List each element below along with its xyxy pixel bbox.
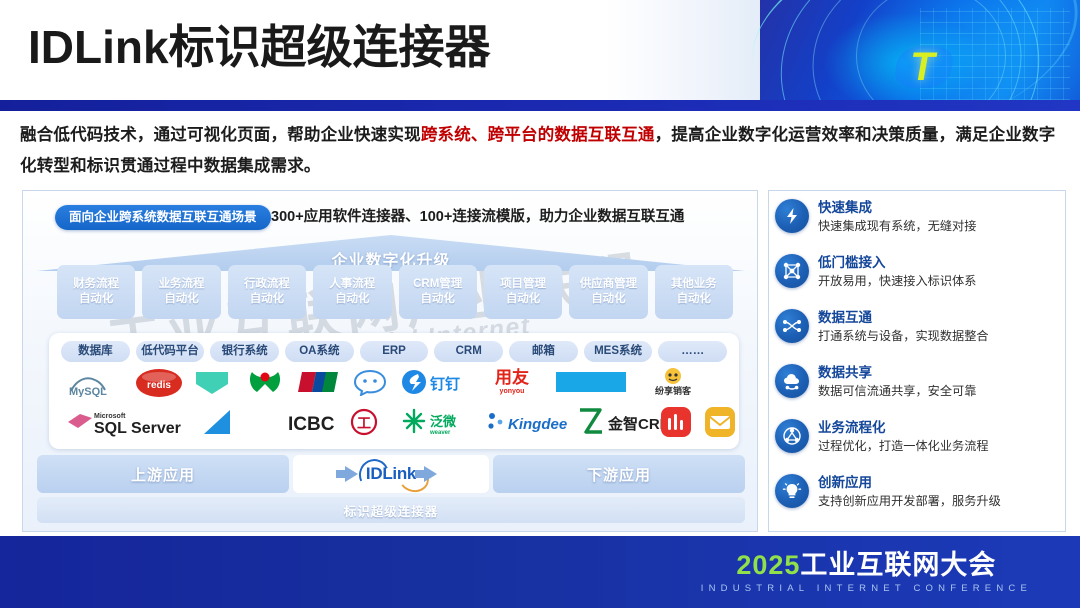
process-box-label-line2: 自动化 [79, 292, 114, 307]
process-flow-icon [775, 419, 809, 453]
system-tag-more[interactable]: …… [658, 341, 727, 362]
feature-title: 低门槛接入 [818, 254, 1057, 272]
svg-text:weaver: weaver [429, 430, 451, 436]
kingdee-logo: Kingdee [483, 407, 575, 437]
feature-desc: 支持创新应用开发部署，服务升级 [818, 492, 1057, 510]
unionpay-logo [295, 369, 341, 395]
feature-title: 创新应用 [818, 474, 1057, 492]
system-tag-banking[interactable]: 银行系统 [210, 341, 279, 362]
systems-card: 数据库 低代码平台 银行系统 OA系统 ERP CRM 邮箱 MES系统 …… … [49, 333, 739, 449]
process-box-row: 财务流程 自动化 业务流程 自动化 行政流程 自动化 人事流程 自动化 CRM管… [57, 265, 733, 319]
scene-tag: 面向企业跨系统数据互联互通场景 [55, 205, 271, 230]
blue-triangle-logo [199, 407, 243, 437]
feature-desc: 数据可信流通共享，安全可靠 [818, 382, 1057, 400]
svg-text:Kingdee: Kingdee [508, 416, 567, 433]
intro-highlight: 跨系统、跨平台的数据互联互通 [421, 126, 655, 144]
feature-title: 数据共享 [818, 364, 1057, 382]
process-box-label-line1: 财务流程 [73, 277, 119, 292]
page-header: T IDLink标识超级连接器 [0, 0, 1080, 104]
panel-headline: 300+应用软件连接器、100+连接流模版，助力企业数据互联互通 [271, 205, 684, 230]
upstream-apps[interactable]: 上游应用 [37, 455, 289, 493]
cloud-share-icon [775, 364, 809, 398]
process-box-label-line1: 供应商管理 [580, 277, 638, 292]
conference-name-cn: 工业互联网大会 [800, 550, 996, 580]
redis-logo: redis [133, 367, 185, 399]
conference-year: 2025 [736, 550, 800, 580]
svg-text:MySQL: MySQL [69, 386, 107, 397]
feature-title: 快速集成 [818, 199, 1057, 217]
process-box-administration[interactable]: 行政流程 自动化 [228, 265, 306, 319]
psbc-logo [245, 367, 285, 397]
process-box-supplier[interactable]: 供应商管理 自动化 [569, 265, 647, 319]
svg-text:工: 工 [357, 415, 371, 431]
process-box-label-line1: 项目管理 [500, 277, 546, 292]
downstream-apps[interactable]: 下游应用 [493, 455, 745, 493]
process-box-label-line2: 自动化 [250, 292, 285, 307]
system-tag-mes[interactable]: MES系统 [584, 341, 653, 362]
process-box-label-line1: 其他业务 [671, 277, 717, 292]
title-divider [0, 100, 1080, 111]
intro-text-part1: 融合低代码技术，通过可视化页面，帮助企业快速实现 [20, 126, 421, 144]
conference-name-en: INDUSTRIAL INTERNET CONFERENCE [701, 582, 1032, 596]
teal-db-logo [193, 369, 235, 397]
idlink-connector[interactable]: IDLink [293, 455, 489, 493]
system-tag-oa[interactable]: OA系统 [285, 341, 354, 362]
svg-text:钉钉: 钉钉 [430, 375, 460, 393]
process-box-business[interactable]: 业务流程 自动化 [142, 265, 220, 319]
idlink-logo-text: IDLink [366, 464, 416, 484]
mysql-logo: MySQL [65, 369, 127, 399]
feature-item-data-interop[interactable]: 数据互通 打通系统与设备，实现数据整合 [775, 307, 1057, 362]
feature-item-fast-integration[interactable]: 快速集成 快速集成现有系统，无缝对接 [775, 197, 1057, 252]
weaver-logo: 泛微weaver [399, 405, 479, 439]
arrow-right-icon [345, 466, 358, 482]
process-box-label-line2: 自动化 [164, 292, 199, 307]
system-tag-email[interactable]: 邮箱 [509, 341, 578, 362]
svg-text:redis: redis [147, 380, 171, 391]
mail-logo [703, 405, 737, 439]
feature-item-process[interactable]: 业务流程化 过程优化，打造一体化业务流程 [775, 417, 1057, 472]
flow-row: 上游应用 IDLink 下游应用 [37, 455, 745, 493]
process-box-label-line2: 自动化 [420, 292, 455, 307]
conference-title: 2025工业互联网大会 [701, 550, 1032, 580]
system-tag-database[interactable]: 数据库 [61, 341, 130, 362]
fxiaoke-logo: 纷享销客 [639, 365, 707, 399]
svg-text:Microsoft: Microsoft [94, 413, 126, 420]
tech-globe-graphic: T [760, 0, 1080, 104]
process-box-label-line1: CRM管理 [413, 277, 462, 292]
partner-logo-grid: MySQL redis 钉钉 用友 yonyou [59, 365, 731, 443]
feature-title: 数据互通 [818, 309, 1057, 327]
feature-title: 业务流程化 [818, 419, 1057, 437]
process-box-label-line1: 行政流程 [244, 277, 290, 292]
process-box-label-line2: 自动化 [335, 292, 370, 307]
process-box-label-line1: 业务流程 [159, 277, 205, 292]
svg-text:SQL Server: SQL Server [94, 420, 181, 437]
page-title: IDLink标识超级连接器 [28, 16, 491, 78]
process-box-label-line2: 自动化 [677, 292, 712, 307]
system-tag-lowcode[interactable]: 低代码平台 [136, 341, 205, 362]
sqlserver-logo: MicrosoftSQL Server [63, 405, 183, 439]
system-tag-erp[interactable]: ERP [360, 341, 429, 362]
page-footer: 2025工业互联网大会 INDUSTRIAL INTERNET CONFEREN… [0, 536, 1080, 608]
feature-item-data-sharing[interactable]: 数据共享 数据可信流通共享，安全可靠 [775, 362, 1057, 417]
process-box-other[interactable]: 其他业务 自动化 [655, 265, 733, 319]
feature-item-low-barrier[interactable]: 低门槛接入 开放易用，快速接入标识体系 [775, 252, 1057, 307]
diagram-panel: 工业互联网产业联盟 Alliance of Industrial Interne… [22, 190, 758, 532]
chat-logo [351, 367, 391, 397]
process-box-label-line2: 自动化 [591, 292, 626, 307]
process-box-hr[interactable]: 人事流程 自动化 [313, 265, 391, 319]
blue-bar-logo [555, 371, 627, 393]
connector-bar: 标识超级连接器 [37, 497, 745, 523]
yonyou-logo: 用友 yonyou [483, 365, 541, 399]
lightbulb-icon [775, 474, 809, 508]
svg-text:泛微: 泛微 [430, 414, 457, 429]
feature-desc: 过程优化，打造一体化业务流程 [818, 437, 1057, 455]
feature-list: 快速集成 快速集成现有系统，无缝对接 低门槛接入 开放易用，快速接入标识体系 数… [768, 190, 1066, 532]
graphic-letter: T [888, 44, 958, 90]
feature-desc: 开放易用，快速接入标识体系 [818, 272, 1057, 290]
conference-logo: 2025工业互联网大会 INDUSTRIAL INTERNET CONFEREN… [701, 550, 1032, 596]
process-box-label-line1: 人事流程 [329, 277, 375, 292]
network-nodes-icon [775, 254, 809, 288]
process-box-project[interactable]: 项目管理 自动化 [484, 265, 562, 319]
data-exchange-icon [775, 309, 809, 343]
red-app-logo [659, 405, 693, 439]
process-box-crm[interactable]: CRM管理 自动化 [399, 265, 477, 319]
process-box-label-line2: 自动化 [506, 292, 541, 307]
dingtalk-logo: 钉钉 [399, 367, 471, 397]
system-tag-row: 数据库 低代码平台 银行系统 OA系统 ERP CRM 邮箱 MES系统 …… [61, 341, 727, 362]
system-tag-crm[interactable]: CRM [434, 341, 503, 362]
process-box-finance[interactable]: 财务流程 自动化 [57, 265, 135, 319]
svg-text:ICBC: ICBC [288, 414, 335, 435]
arrow-right-icon [424, 466, 437, 482]
intro-paragraph: 融合低代码技术，通过可视化页面，帮助企业快速实现跨系统、跨平台的数据互联互通，提… [20, 120, 1065, 182]
feature-desc: 打通系统与设备，实现数据整合 [818, 327, 1057, 345]
icbc-logo: ICBC工 [287, 407, 383, 437]
lightning-icon [775, 199, 809, 233]
feature-item-innovation[interactable]: 创新应用 支持创新应用开发部署，服务升级 [775, 472, 1057, 527]
feature-desc: 快速集成现有系统，无缝对接 [818, 217, 1057, 235]
